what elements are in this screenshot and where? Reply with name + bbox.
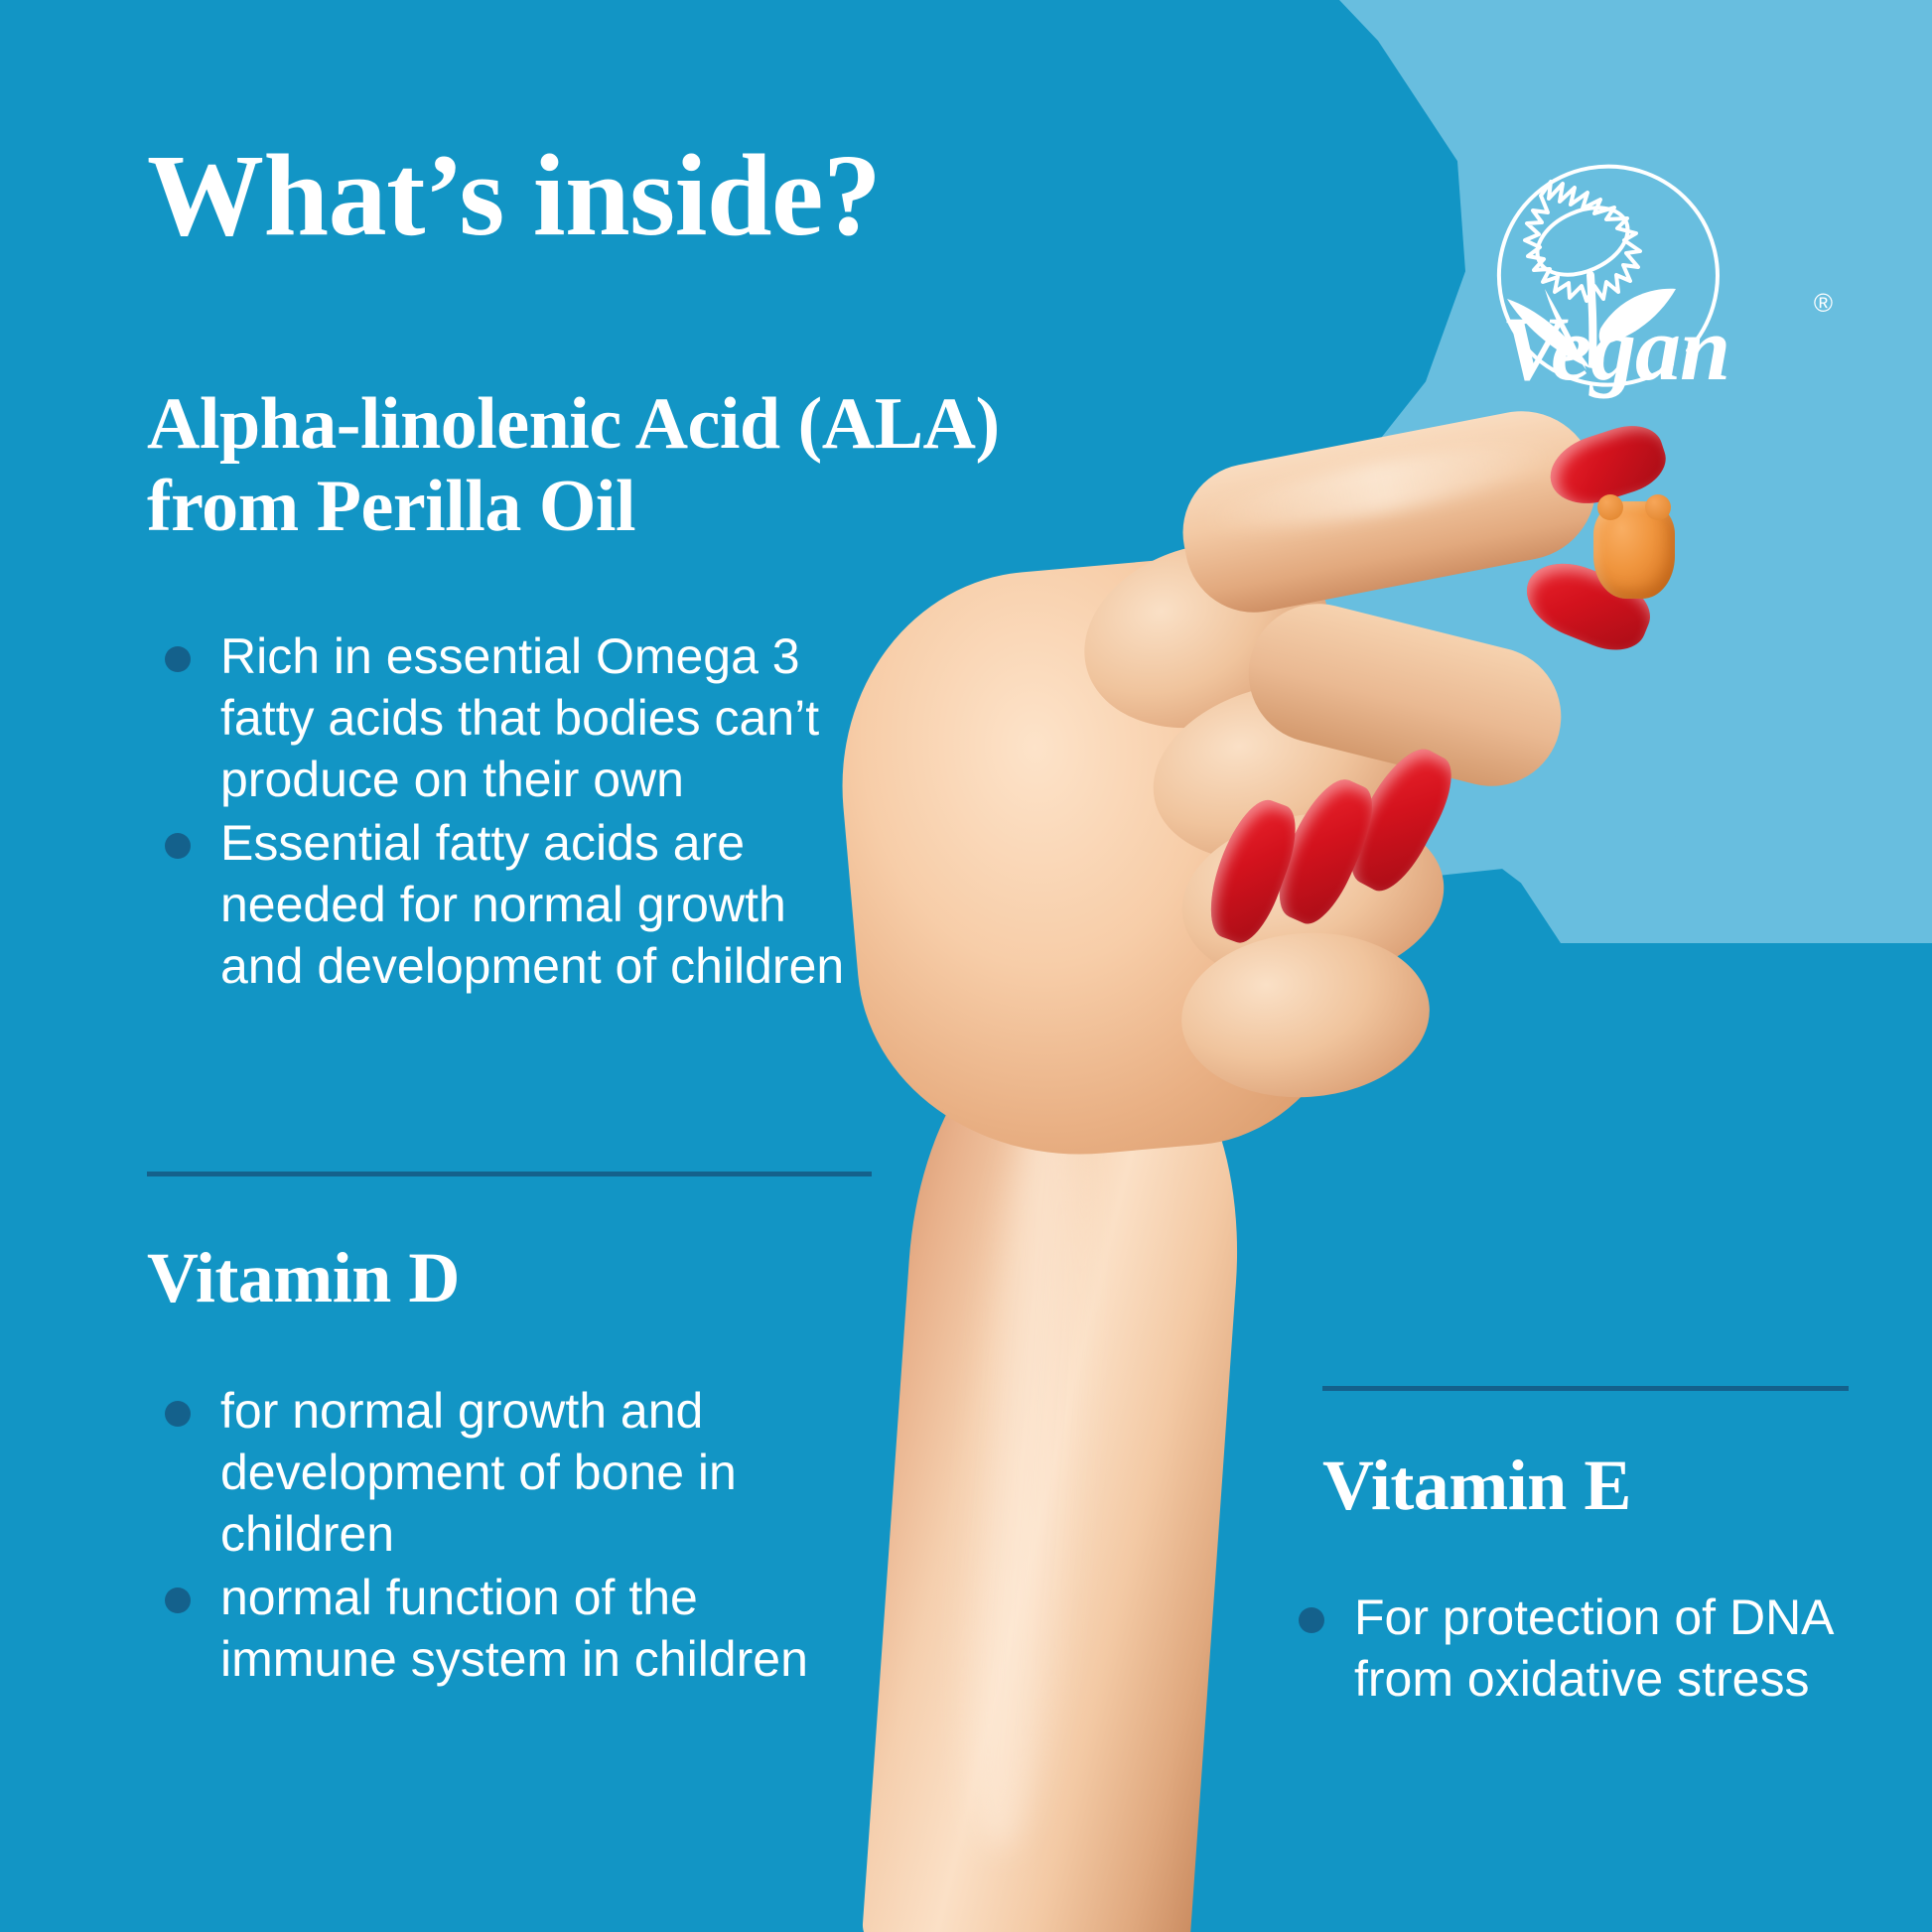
list-item: Rich in essential Omega 3 fatty acids th… [147, 625, 882, 810]
section-heading-ala: Alpha-linolenic Acid (ALA) from Perilla … [147, 383, 1001, 548]
bullet-list-vitamin-e: For protection of DNA from oxidative str… [1281, 1587, 1837, 1712]
list-item: for normal growth and development of bon… [147, 1380, 842, 1565]
vegan-society-badge: Vegan ® [1442, 104, 1839, 402]
vegan-wordmark: Vegan [1501, 303, 1729, 394]
list-item: For protection of DNA from oxidative str… [1281, 1587, 1837, 1710]
infographic-poster: Vegan ® What’s inside? Alpha-linolenic A… [0, 0, 1932, 1932]
section-heading-vitamin-d: Vitamin D [147, 1237, 460, 1319]
list-item: Essential fatty acids are needed for nor… [147, 812, 882, 997]
bullet-list-ala: Rich in essential Omega 3 fatty acids th… [147, 625, 882, 999]
page-title: What’s inside? [147, 137, 881, 254]
registered-trademark-symbol: ® [1814, 288, 1833, 319]
bullet-list-vitamin-d: for normal growth and development of bon… [147, 1380, 842, 1692]
section-heading-vitamin-e: Vitamin E [1322, 1445, 1631, 1527]
divider-right [1322, 1386, 1849, 1391]
divider-left [147, 1172, 872, 1176]
list-item: normal function of the immune system in … [147, 1567, 842, 1690]
